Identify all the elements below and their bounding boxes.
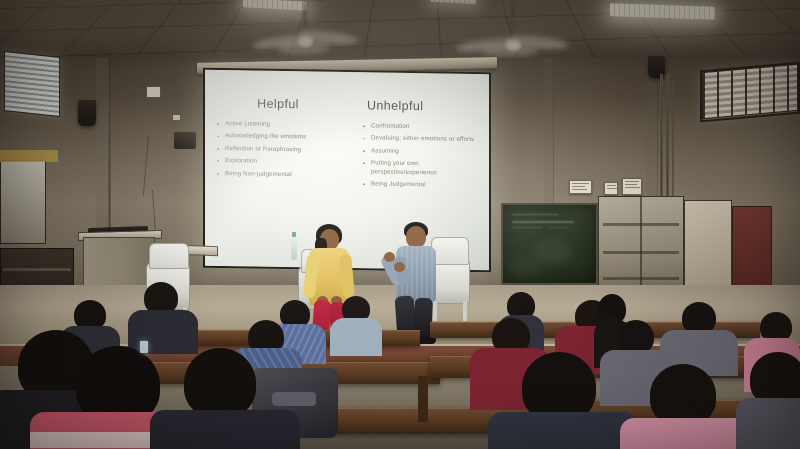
audience-member-foreground	[150, 348, 290, 449]
slide-column-unhelpful: Unhelpful Confrontation Devaluing: eithe…	[347, 98, 489, 195]
wall-seam	[544, 58, 554, 208]
ceiling-fan	[258, 26, 354, 56]
audience-member-foreground	[620, 364, 750, 449]
ceiling-fan	[460, 30, 566, 60]
slide-column-helpful: Helpful Active Listening Acknowledging t…	[205, 96, 347, 193]
slide-bullets-unhelpful: Confrontation Devaluing: either emotions…	[361, 122, 483, 190]
photo-scene: Helpful Active Listening Acknowledging t…	[0, 0, 800, 449]
wall-crack	[152, 190, 156, 236]
wall-trim	[0, 150, 58, 162]
wall-notice	[569, 180, 592, 194]
audience-member-foreground	[488, 352, 628, 449]
bottle-cap	[292, 232, 296, 237]
slide-bullets-helpful: Active Listening Acknowledging the emoti…	[215, 120, 341, 180]
window-frame	[700, 62, 800, 123]
wall-speaker	[78, 100, 96, 126]
slide-bullet: Devaluing: either emotions or efforts	[361, 135, 483, 145]
slide-bullet: Exploration	[215, 157, 341, 167]
slide-heading-helpful: Helpful	[215, 96, 341, 112]
projector-mount	[174, 132, 196, 149]
slide-bullet: Putting your own perspective/experience	[361, 159, 483, 178]
junction-box	[146, 86, 161, 98]
phone-screen	[140, 341, 148, 353]
audience-member	[330, 296, 382, 348]
slide-bullet: Acknowledging the emotions	[215, 132, 341, 142]
louvered-window	[4, 51, 60, 117]
lower-window	[0, 160, 46, 244]
slide-heading-unhelpful: Unhelpful	[361, 98, 483, 114]
slide-columns: Helpful Active Listening Acknowledging t…	[205, 96, 489, 195]
slide-bullet: Active Listening	[215, 120, 341, 130]
slide-bullet: Reflection or Paraphrasing	[215, 145, 341, 155]
audience-member-foreground	[736, 352, 800, 449]
rack-shelf	[3, 268, 71, 271]
water-bottle	[291, 236, 297, 260]
slide-bullet: Confrontation	[361, 122, 483, 132]
slide-bullet: Being Non-judgemental	[215, 170, 341, 180]
wall-notice	[622, 178, 642, 195]
audience-member	[128, 282, 198, 344]
slide-bullet: Being Judgemental	[361, 180, 483, 190]
wall-pilaster	[646, 58, 658, 218]
slide-bullet: Assuming	[361, 147, 483, 157]
green-chalkboard	[501, 203, 598, 285]
junction-box	[172, 114, 181, 121]
wall-crack	[143, 136, 150, 196]
wall-notice	[604, 182, 618, 195]
desk-leg	[418, 376, 428, 422]
